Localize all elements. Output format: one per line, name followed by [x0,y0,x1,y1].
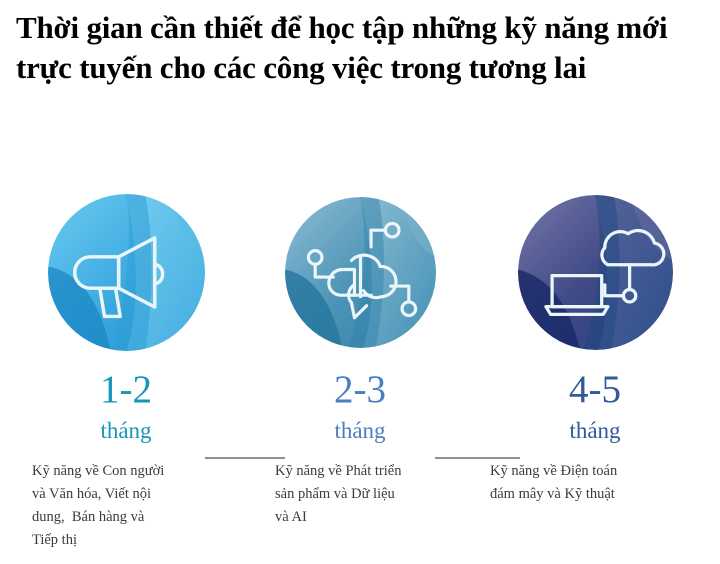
step-1-value: 1-2 tháng [26,370,226,442]
step-3-circle [518,195,673,350]
step-1-caption: Kỹ năng về Con người và Văn hóa, Viết nộ… [32,460,247,552]
step-1-unit: tháng [26,419,226,442]
step-2-unit: tháng [260,419,460,442]
connector-line-2-3 [435,457,520,459]
step-3-number: 4-5 [495,370,695,409]
step-2-caption: Kỹ năng về Phát triển sản phẩm và Dữ liệ… [275,460,490,529]
step-2-value: 2-3 tháng [260,370,460,442]
connector-line-1-2 [205,457,285,459]
step-3-value: 4-5 tháng [495,370,695,442]
step-2-circle [285,197,436,348]
step-1-number: 1-2 [26,370,226,409]
step-3-unit: tháng [495,419,695,442]
page-title: Thời gian cần thiết để học tập những kỹ … [16,8,686,88]
infographic-timeline: 1-2 tháng Kỹ năng về Con người và Văn hó… [0,185,720,564]
step-1-circle [48,194,205,351]
step-2-number: 2-3 [260,370,460,409]
step-3-caption: Kỹ năng về Điện toán đám mây và Kỹ thuật [490,460,710,506]
